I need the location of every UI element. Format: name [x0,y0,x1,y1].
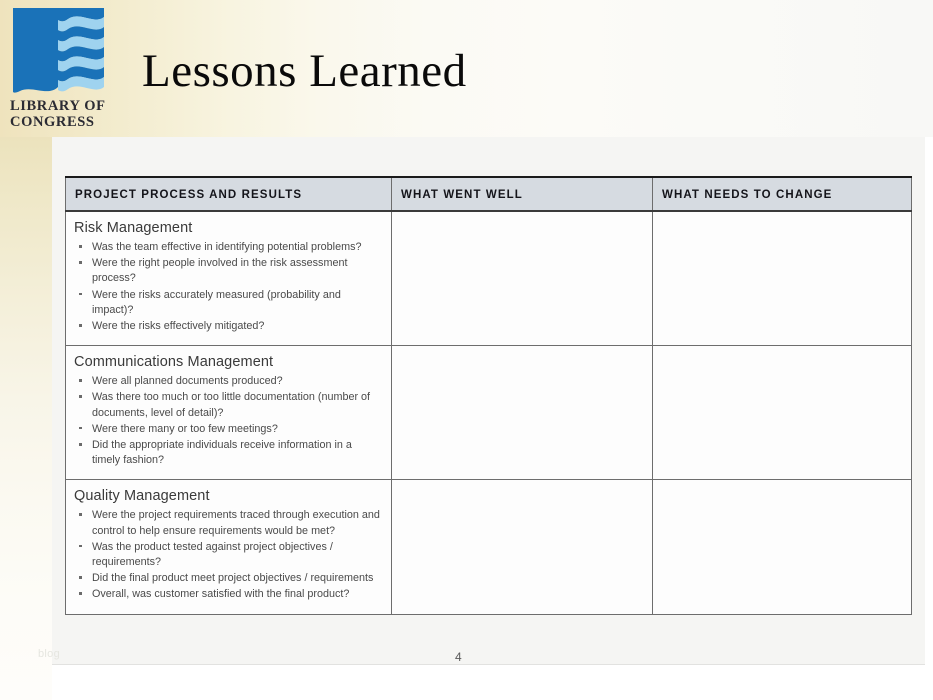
category-title: Risk Management [74,220,381,237]
waving-book-flag-icon [10,5,107,97]
bullet-icon [79,513,82,516]
question-text: Were there many or too few meetings? [92,423,278,435]
question-text: Were the project requirements traced thr… [92,509,380,536]
cell-what-needs-to-change-communications-management[interactable] [653,346,912,480]
question-list: Were all planned documents produced? Was… [74,374,381,468]
category-title: Quality Management [74,488,381,505]
list-item: Were the right people involved in the ri… [74,256,381,286]
question-text: Were the risks effectively mitigated? [92,320,264,332]
question-text: Did the appropriate individuals receive … [92,439,352,466]
table-row: Quality Management Were the project requ… [66,480,912,614]
bullet-icon [79,576,82,579]
list-item: Were there many or too few meetings? [74,422,381,437]
list-item: Were the project requirements traced thr… [74,508,381,538]
column-header-project-process-and-results: PROJECT PROCESS AND RESULTS [66,177,392,211]
list-item: Did the final product meet project objec… [74,571,381,586]
bullet-icon [79,379,82,382]
table-row: Communications Management Were all plann… [66,346,912,480]
question-text: Overall, was customer satisfied with the… [92,588,349,600]
cell-what-went-well-risk-management[interactable] [392,211,653,346]
question-list: Was the team effective in identifying po… [74,240,381,334]
bullet-icon [79,261,82,264]
list-item: Was there too much or too little documen… [74,390,381,420]
cell-what-needs-to-change-quality-management[interactable] [653,480,912,614]
cell-category-communications-management: Communications Management Were all plann… [66,346,392,480]
table-row: Risk Management Was the team effective i… [66,211,912,346]
page-number: 4 [455,650,462,664]
column-header-what-needs-to-change: WHAT NEEDS TO CHANGE [653,177,912,211]
cell-category-quality-management: Quality Management Were the project requ… [66,480,392,614]
question-text: Were the right people involved in the ri… [92,257,347,284]
question-text: Was the product tested against project o… [92,541,333,568]
question-text: Were all planned documents produced? [92,375,283,387]
cell-category-risk-management: Risk Management Was the team effective i… [66,211,392,346]
cell-what-went-well-quality-management[interactable] [392,480,653,614]
slide-canvas: LIBRARY OF CONGRESS Lessons Learned PROJ… [0,0,933,700]
logo-text-line-1: LIBRARY OF [10,99,106,114]
question-text: Was the team effective in identifying po… [92,241,361,253]
column-header-what-went-well: WHAT WENT WELL [392,177,653,211]
column-header-label: PROJECT PROCESS AND RESULTS [75,189,302,201]
list-item: Were the risks effectively mitigated? [74,319,381,334]
lessons-learned-table: PROJECT PROCESS AND RESULTS WHAT WENT WE… [65,176,912,615]
bullet-icon [79,395,82,398]
bullet-icon [79,427,82,430]
list-item: Did the appropriate individuals receive … [74,438,381,468]
question-text: Were the risks accurately measured (prob… [92,289,341,316]
bullet-icon [79,245,82,248]
logo-text-line-2: CONGRESS [10,115,95,130]
table-header-row: PROJECT PROCESS AND RESULTS WHAT WENT WE… [66,177,912,211]
bullet-icon [79,293,82,296]
footer-note: blog [38,648,60,660]
footer-divider [52,664,925,665]
bullet-icon [79,443,82,446]
bullet-icon [79,324,82,327]
bullet-icon [79,592,82,595]
column-header-label: WHAT WENT WELL [401,189,523,201]
column-header-label: WHAT NEEDS TO CHANGE [662,189,832,201]
question-text: Was there too much or too little documen… [92,391,370,418]
cell-what-needs-to-change-risk-management[interactable] [653,211,912,346]
list-item: Were the risks accurately measured (prob… [74,288,381,318]
list-item: Were all planned documents produced? [74,374,381,389]
cell-what-went-well-communications-management[interactable] [392,346,653,480]
library-of-congress-logo: LIBRARY OF CONGRESS [8,5,113,130]
bullet-icon [79,545,82,548]
page-title: Lessons Learned [142,44,467,98]
category-title: Communications Management [74,354,381,371]
list-item: Was the product tested against project o… [74,540,381,570]
question-text: Did the final product meet project objec… [92,572,373,584]
list-item: Was the team effective in identifying po… [74,240,381,255]
question-list: Were the project requirements traced thr… [74,508,381,602]
list-item: Overall, was customer satisfied with the… [74,587,381,602]
